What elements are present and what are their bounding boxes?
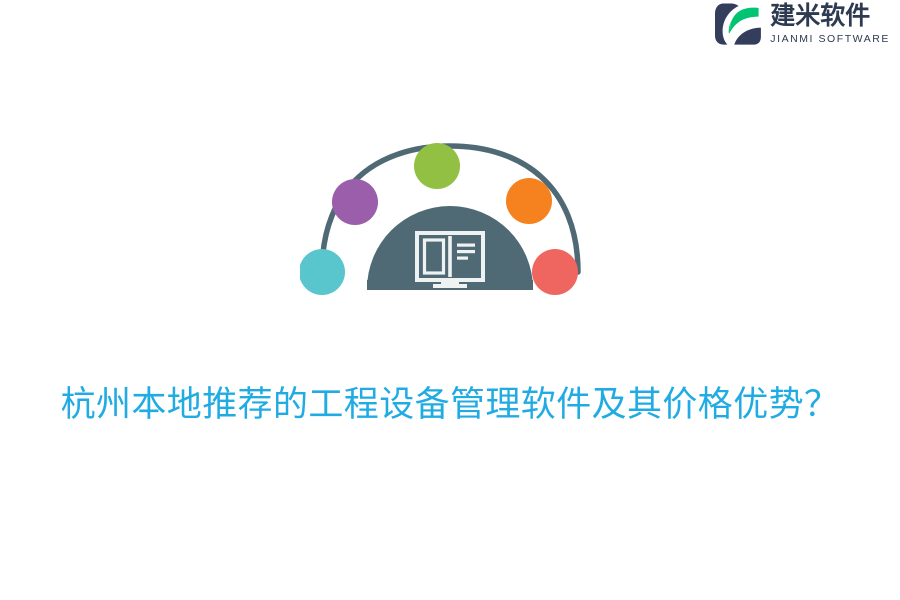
green-node[interactable]	[414, 143, 460, 189]
knowledge-dome-illustration	[0, 130, 900, 310]
brand-name-en: JIANMI SOFTWARE	[770, 32, 890, 46]
brand-name-cn: 建米软件	[770, 3, 890, 29]
red-node[interactable]	[532, 249, 578, 295]
illustration-canvas	[300, 130, 600, 310]
jianmi-leaf-logo-icon	[714, 2, 762, 46]
teal-node[interactable]	[300, 249, 345, 295]
brand-logo-wordmark: 建米软件 JIANMI SOFTWARE	[770, 3, 890, 46]
purple-node[interactable]	[332, 179, 378, 225]
page-title: 杭州本地推荐的工程设备管理软件及其价格优势？	[0, 383, 900, 427]
brand-logo[interactable]: 建米软件 JIANMI SOFTWARE	[714, 0, 890, 48]
orange-node[interactable]	[506, 178, 552, 224]
